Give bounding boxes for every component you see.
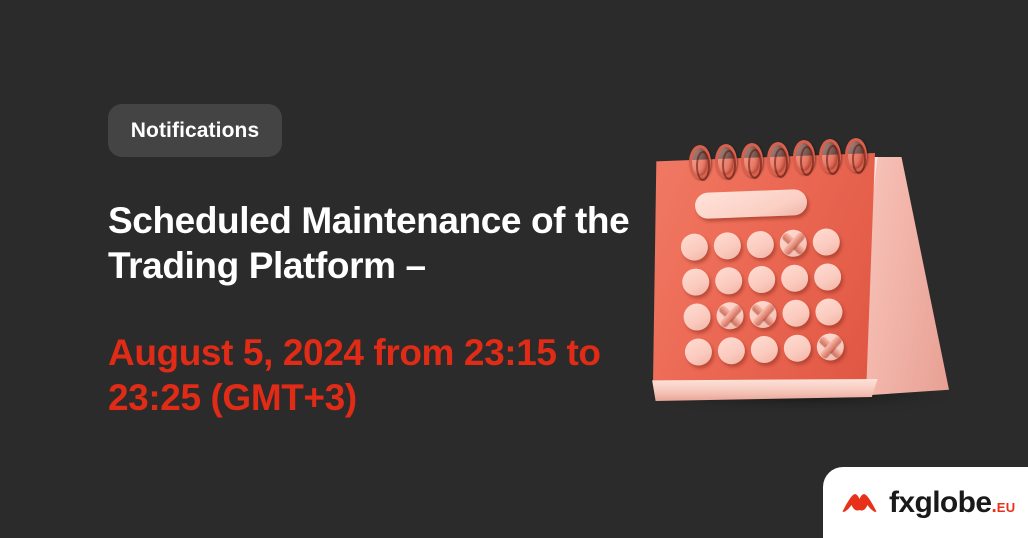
calendar-spiral-ring bbox=[689, 145, 711, 179]
calendar-date-dot bbox=[715, 267, 743, 295]
calendar-date-dot bbox=[748, 266, 776, 294]
calendar-spiral-ring bbox=[793, 140, 815, 174]
calendar-date-dot bbox=[815, 298, 843, 326]
calendar-spiral-ring bbox=[819, 139, 841, 173]
notification-banner: Notifications Scheduled Maintenance of t… bbox=[0, 0, 1028, 538]
calendar-date-dot bbox=[713, 232, 741, 260]
fxglobe-peaks-icon bbox=[841, 491, 878, 515]
calendar-spiral-ring bbox=[741, 143, 763, 177]
calendar-date-dot bbox=[812, 228, 840, 256]
calendar-date-dot bbox=[683, 303, 711, 331]
calendar-title-bar bbox=[695, 189, 808, 219]
calendar-date-dot bbox=[680, 233, 708, 261]
calendar-date-dot bbox=[746, 231, 774, 259]
calendar-date-dot bbox=[682, 268, 710, 296]
calendar-date-dot bbox=[684, 338, 712, 366]
calendar-marked-date bbox=[779, 229, 807, 257]
fxglobe-tld: EU bbox=[997, 500, 1016, 515]
calendar-date-dot bbox=[781, 264, 809, 292]
notifications-badge: Notifications bbox=[108, 104, 282, 157]
maintenance-window-text: August 5, 2024 from 23:15 to 23:25 (GMT+… bbox=[108, 330, 683, 420]
calendar-spiral-ring bbox=[845, 138, 867, 172]
calendar-date-grid bbox=[680, 228, 845, 374]
fxglobe-wordmark: fxglobe . EU bbox=[889, 486, 1015, 520]
calendar-date-dot bbox=[782, 299, 810, 327]
calendar-spiral-ring bbox=[715, 144, 737, 178]
fxglobe-word: fxglobe bbox=[889, 486, 991, 520]
page-title: Scheduled Maintenance of the Trading Pla… bbox=[108, 198, 668, 288]
desk-calendar-illustration bbox=[645, 135, 955, 420]
notifications-badge-label: Notifications bbox=[131, 119, 259, 143]
calendar-marked-date bbox=[749, 301, 777, 329]
calendar-date-dot bbox=[783, 334, 811, 362]
calendar-marked-date bbox=[816, 333, 844, 361]
calendar-spiral-ring bbox=[767, 142, 789, 176]
calendar-date-dot bbox=[750, 335, 778, 363]
fxglobe-logo-card: fxglobe . EU bbox=[823, 467, 1028, 538]
calendar-marked-date bbox=[716, 302, 744, 330]
calendar-date-dot bbox=[814, 263, 842, 291]
calendar-date-dot bbox=[717, 337, 745, 365]
